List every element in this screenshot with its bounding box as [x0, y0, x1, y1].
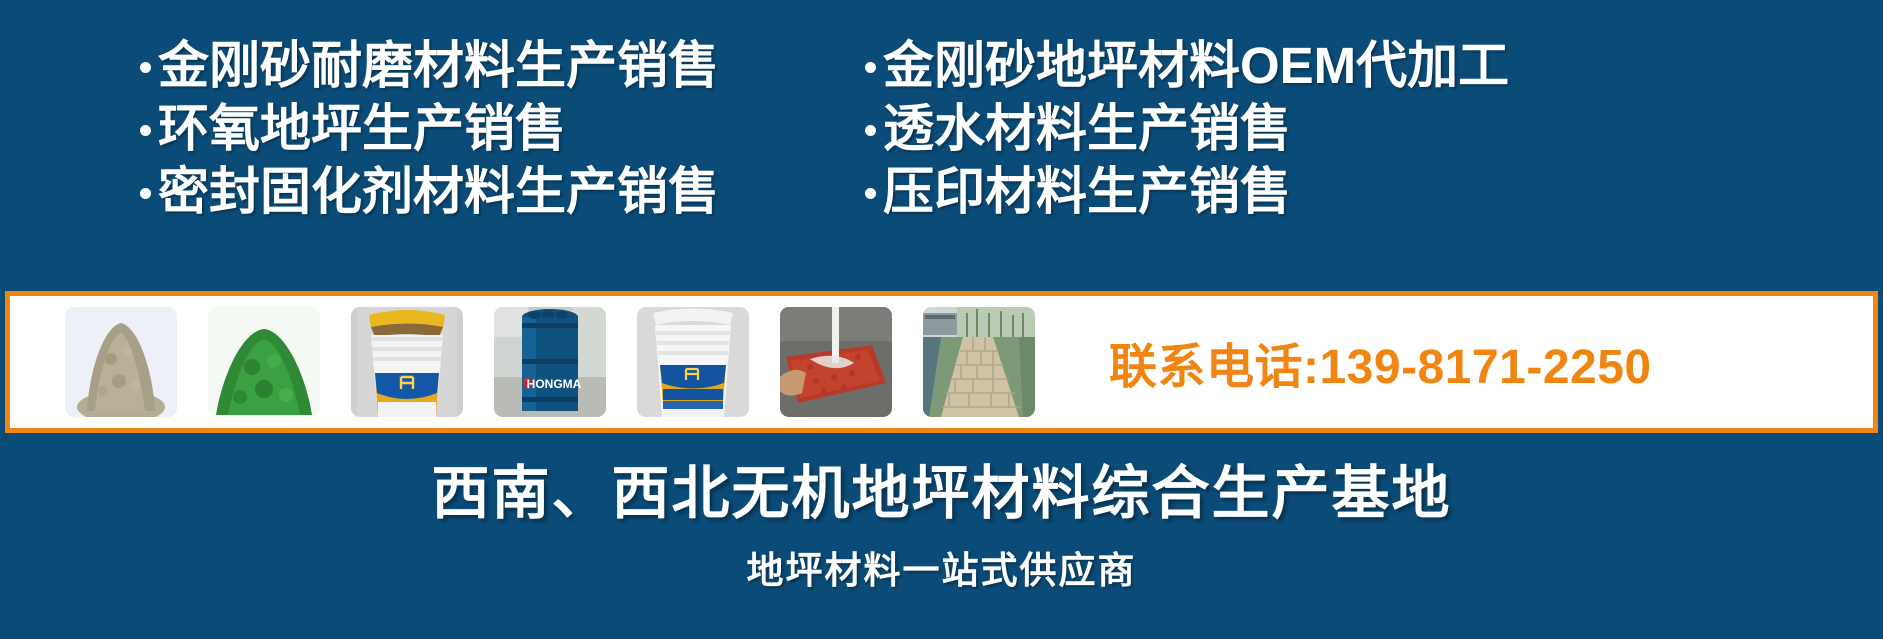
bullet-dot-icon [140, 188, 151, 199]
bullet-dot-icon [140, 62, 151, 73]
service-label: 金刚砂地坪材料OEM代加工 [883, 34, 1509, 97]
svg-text:HONGMA: HONGMA [527, 377, 582, 391]
service-item-left-1: 金刚砂耐磨材料生产销售 [140, 34, 840, 97]
service-label: 密封固化剂材料生产销售 [158, 160, 719, 223]
promotional-banner: 金刚砂耐磨材料生产销售 环氧地坪生产销售 密封固化剂材料生产销售 金刚砂地坪材料… [0, 0, 1883, 639]
service-item-right-2: 透水材料生产销售 [865, 97, 1525, 160]
stamped-pathway-photo [923, 307, 1035, 417]
service-item-right-3: 压印材料生产销售 [865, 160, 1525, 223]
product-strip: HONGMA [5, 291, 1878, 433]
green-aggregate-powder-photo [208, 307, 320, 417]
service-item-left-3: 密封固化剂材料生产销售 [140, 160, 840, 223]
white-yellow-bucket-photo [351, 307, 463, 417]
services-right-column: 金刚砂地坪材料OEM代加工 透水材料生产销售 压印材料生产销售 [865, 34, 1525, 223]
bullet-dot-icon [865, 188, 876, 199]
bullet-dot-icon [140, 125, 151, 136]
grey-aggregate-powder-photo [65, 307, 177, 417]
product-thumbnail-list: HONGMA [10, 296, 1035, 428]
service-label: 金刚砂耐磨材料生产销售 [158, 34, 719, 97]
red-permeable-floor-photo [780, 307, 892, 417]
service-label: 透水材料生产销售 [883, 97, 1291, 160]
service-label: 环氧地坪生产销售 [158, 97, 566, 160]
services-lists: 金刚砂耐磨材料生产销售 环氧地坪生产销售 密封固化剂材料生产销售 金刚砂地坪材料… [0, 34, 1883, 230]
service-label: 压印材料生产销售 [883, 160, 1291, 223]
services-left-column: 金刚砂耐磨材料生产销售 环氧地坪生产销售 密封固化剂材料生产销售 [140, 34, 840, 223]
footer-headline: 西南、西北无机地坪材料综合生产基地 [0, 446, 1883, 530]
footer-subline: 地坪材料一站式供应商 [0, 540, 1883, 594]
blue-drum-photo: HONGMA [494, 307, 606, 417]
bullet-dot-icon [865, 125, 876, 136]
service-item-left-2: 环氧地坪生产销售 [140, 97, 840, 160]
white-blue-bucket-photo [637, 307, 749, 417]
service-item-right-1: 金刚砂地坪材料OEM代加工 [865, 34, 1525, 97]
contact-phone-number[interactable]: 联系电话:139-8171-2250 [1109, 327, 1652, 397]
bullet-dot-icon [865, 62, 876, 73]
